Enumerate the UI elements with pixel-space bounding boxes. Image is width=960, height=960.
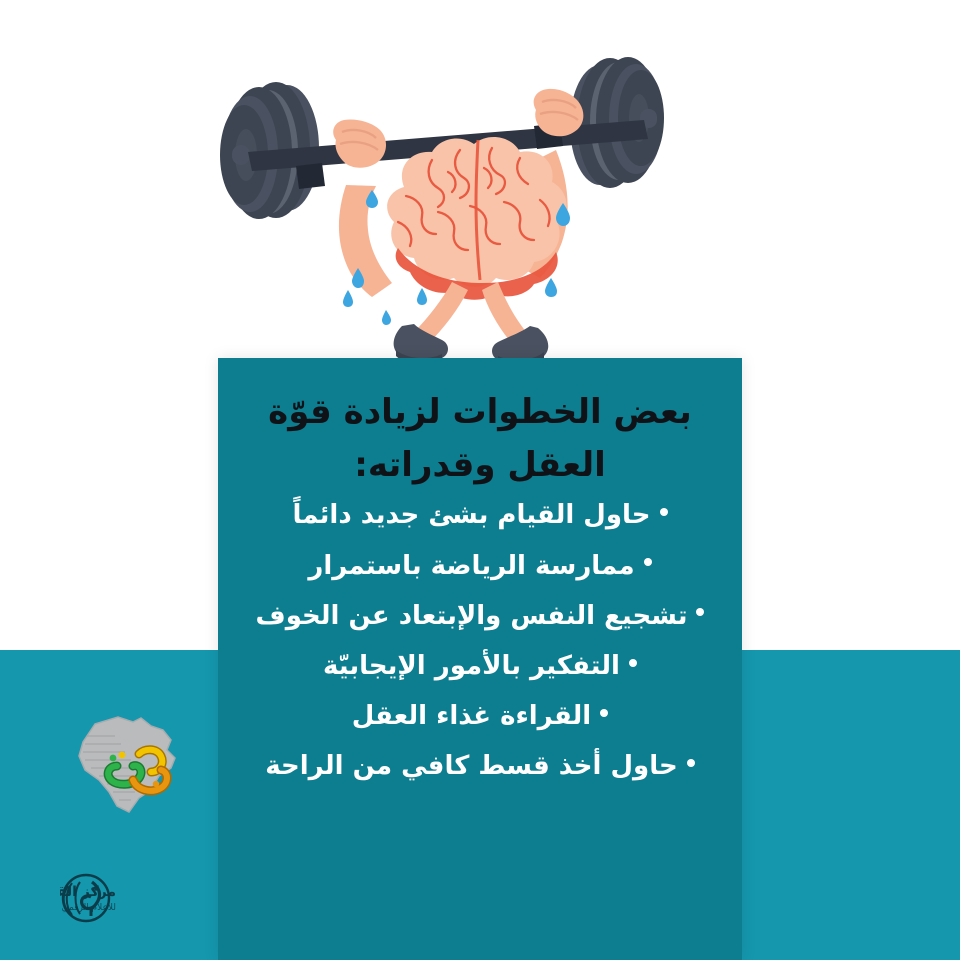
list-item-label: حاول أخذ قسط كافي من الراحة: [265, 751, 677, 781]
infographic-poster: بعض الخطوات لزيادة قوّة العقل وقدراته: ح…: [0, 0, 960, 960]
brain-lifting-barbell-illustration: [0, 0, 960, 380]
page-title-line1: بعض الخطوات لزيادة قوّة: [236, 388, 724, 437]
list-item-label: ممارسة الرياضة باستمرار: [308, 551, 634, 581]
list-item: ممارسة الرياضة باستمرار: [236, 552, 724, 581]
bullet-dot-icon: [644, 558, 652, 566]
markaz-subtitle: للاعلام الرقمي: [61, 903, 116, 913]
markaz-alqimam-logo[interactable]: مركز القمم للاعلام الرقمي: [60, 872, 210, 924]
list-item: تشجيع النفس والإبتعاد عن الخوف: [236, 602, 724, 631]
brain-body: [387, 137, 566, 300]
markaz-title: مركز القمم: [60, 884, 116, 900]
wujooh-iraqiya-logo[interactable]: وجوه عراقية: [55, 706, 205, 826]
page-title-line2: العقل وقدراته:: [236, 443, 724, 487]
bullet-dot-icon: [629, 659, 637, 667]
list-item: حاول القيام بشئ جديد دائماً: [236, 501, 724, 530]
bullet-dot-icon: [696, 608, 704, 616]
panel-text-block: بعض الخطوات لزيادة قوّة العقل وقدراته: ح…: [218, 358, 742, 802]
left-arm: [339, 185, 392, 297]
list-item-label: حاول القيام بشئ جديد دائماً: [292, 500, 650, 530]
bullet-dot-icon: [600, 709, 608, 717]
list-item: القراءة غذاء العقل: [236, 702, 724, 731]
bullet-dot-icon: [660, 508, 668, 516]
tips-list: حاول القيام بشئ جديد دائماً ممارسة الريا…: [236, 501, 724, 781]
list-item-label: التفكير بالأمور الإيجابيّة: [323, 651, 620, 681]
markaz-wordmark: مركز القمم للاعلام الرقمي: [60, 884, 116, 913]
list-item: التفكير بالأمور الإيجابيّة: [236, 652, 724, 681]
bullet-dot-icon: [687, 759, 695, 767]
list-item-label: القراءة غذاء العقل: [352, 701, 591, 731]
content-panel: بعض الخطوات لزيادة قوّة العقل وقدراته: ح…: [218, 358, 742, 960]
list-item-label: تشجيع النفس والإبتعاد عن الخوف: [256, 601, 688, 631]
list-item: حاول أخذ قسط كافي من الراحة: [236, 752, 724, 781]
